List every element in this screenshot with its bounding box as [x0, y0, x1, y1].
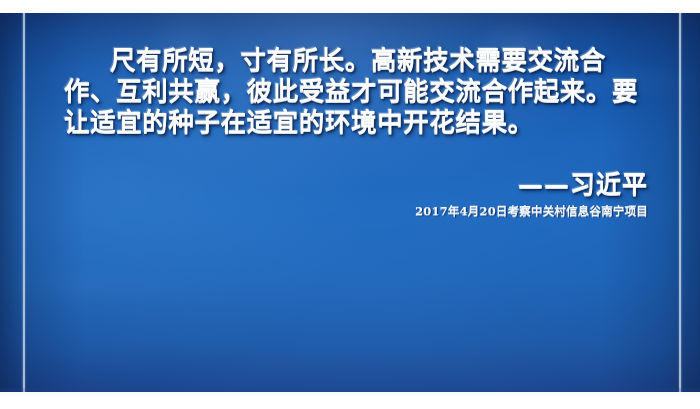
attribution-date-note: 2017年4月20日考察中关村信息谷南宁项目 — [415, 204, 648, 219]
quote-line-2: 作、互利共赢，彼此受益才可能交流合作起来。要 — [64, 77, 654, 108]
attribution-author: ——习近平 — [415, 170, 648, 200]
bottom-white-margin — [0, 392, 700, 409]
blue-signage-board: 尺有所短，寸有所长。高新技术需要交流合 作、互利共赢，彼此受益才可能交流合作起来… — [0, 13, 700, 392]
quote-text-block: 尺有所短，寸有所长。高新技术需要交流合 作、互利共赢，彼此受益才可能交流合作起来… — [64, 46, 654, 139]
quote-line-1: 尺有所短，寸有所长。高新技术需要交流合 — [64, 46, 654, 77]
signage-photo: 尺有所短，寸有所长。高新技术需要交流合 作、互利共赢，彼此受益才可能交流合作起来… — [0, 0, 700, 409]
top-white-margin — [0, 0, 700, 13]
quote-line-3: 让适宜的种子在适宜的环境中开花结果。 — [64, 108, 654, 139]
attribution-block: ——习近平 2017年4月20日考察中关村信息谷南宁项目 — [415, 170, 648, 219]
